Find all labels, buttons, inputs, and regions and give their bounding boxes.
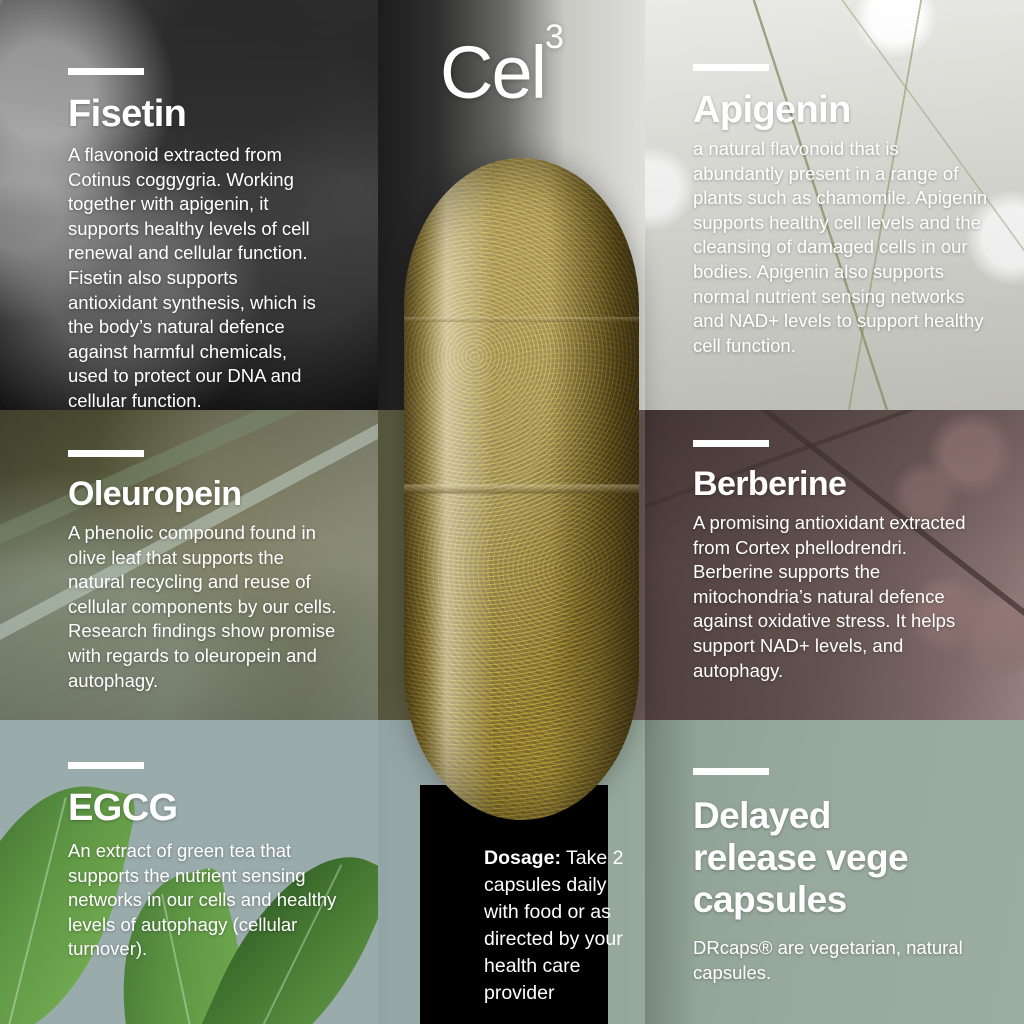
panel-title-apigenin: Apigenin — [693, 91, 990, 129]
brand-superscript: 3 — [545, 18, 564, 56]
panel-berberine: Berberine A promising antioxidant extrac… — [645, 410, 1024, 720]
panel-title-egcg: EGCG — [68, 789, 338, 827]
accent-bar-berberine — [693, 440, 769, 447]
panel-title-fisetin: Fisetin — [68, 95, 328, 133]
panel-body-delayed-release: DRcaps® are vegetarian, natural capsules… — [693, 936, 984, 985]
capsule-seam-middle — [404, 485, 639, 494]
accent-bar-egcg — [68, 762, 144, 769]
capsule-seam-upper — [404, 317, 639, 322]
panel-delayed-release: Delayed release vege capsules DRcaps® ar… — [645, 720, 1024, 1024]
panel-body-apigenin: a natural flavonoid that is abundantly p… — [693, 137, 990, 358]
panel-egcg: EGCG An extract of green tea that suppor… — [0, 720, 378, 1024]
brand-logo: Cel3 — [440, 36, 564, 110]
panel-title-berberine: Berberine — [693, 467, 984, 501]
panel-apigenin: Apigenin a natural flavonoid that is abu… — [645, 0, 1024, 410]
panel-body-oleuropein: A phenolic compound found in olive leaf … — [68, 521, 338, 693]
accent-bar-apigenin — [693, 64, 769, 71]
brand-name: Cel — [440, 31, 545, 114]
product-infographic: Fisetin A flavonoid extracted from Cotin… — [0, 0, 1024, 1024]
dosage-instructions: Take 2 capsules daily with food or as di… — [484, 847, 623, 1004]
dosage-label: Dosage: — [484, 847, 561, 869]
accent-bar-delayed-release — [693, 768, 769, 775]
panel-body-berberine: A promising antioxidant extracted from C… — [693, 511, 984, 683]
panel-oleuropein: Oleuropein A phenolic compound found in … — [0, 410, 378, 720]
capsule-product-image — [404, 158, 639, 820]
panel-fisetin: Fisetin A flavonoid extracted from Cotin… — [0, 0, 378, 410]
panel-title-delayed-release: Delayed release vege capsules — [693, 795, 963, 920]
dosage-text: Dosage: Take 2 capsules daily with food … — [484, 845, 636, 1006]
accent-bar-oleuropein — [68, 450, 144, 457]
panel-body-egcg: An extract of green tea that supports th… — [68, 839, 338, 962]
accent-bar-fisetin — [68, 68, 144, 75]
dosage-panel: Dosage: Take 2 capsules daily with food … — [420, 785, 608, 1024]
panel-body-fisetin: A flavonoid extracted from Cotinus coggy… — [68, 143, 328, 410]
panel-title-oleuropein: Oleuropein — [68, 477, 338, 511]
